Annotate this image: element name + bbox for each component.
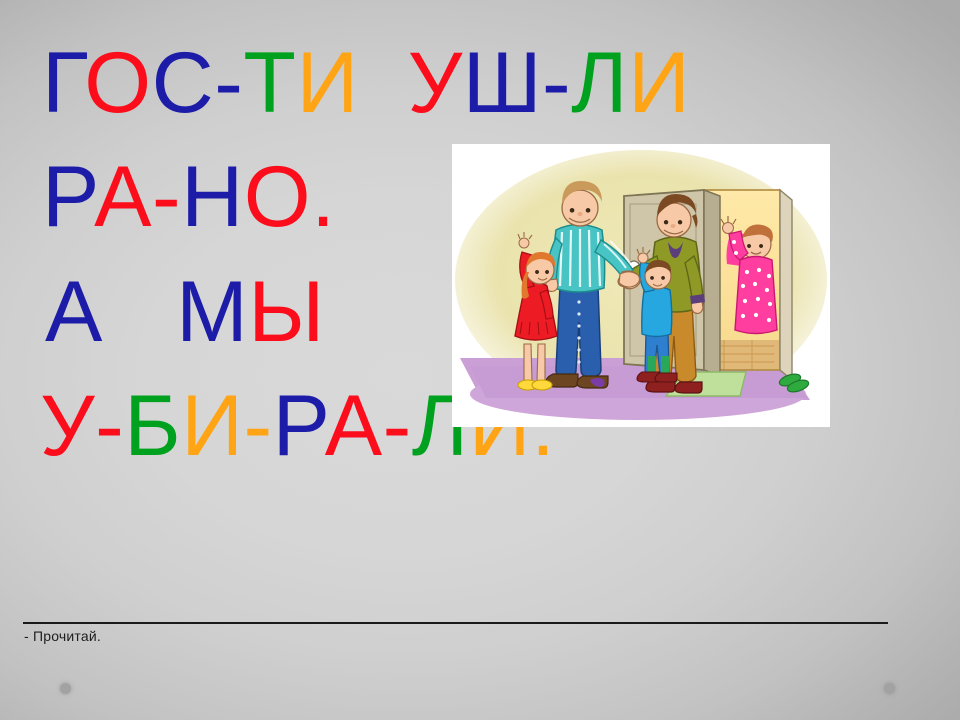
text-segment: М [176, 264, 248, 360]
footer-divider [23, 622, 888, 624]
text-segment: И [296, 35, 358, 131]
text-segment: Р [42, 149, 94, 245]
decorative-dot-right [884, 683, 895, 694]
text-segment: У- [40, 378, 124, 474]
decorative-dot-left [60, 683, 71, 694]
text-segment: Ы [248, 264, 325, 360]
illustration-frame [452, 144, 830, 427]
text-segment: А [45, 264, 103, 360]
text-segment: Б [124, 378, 181, 474]
footer-caption: - Прочитай. [24, 628, 101, 644]
handshake [619, 272, 640, 287]
text-segment: О [84, 35, 151, 131]
text-segment: Ш- [463, 35, 571, 131]
text-segment: Т [243, 35, 296, 131]
text-segment [103, 264, 176, 360]
text-segment: И- [181, 378, 272, 474]
text-segment [359, 35, 408, 131]
text-segment: Г [42, 35, 84, 131]
text-segment: Р [273, 378, 325, 474]
text-segment: С- [152, 35, 244, 131]
guests-leaving-illustration [452, 144, 830, 427]
text-segment: Н [181, 149, 244, 245]
text-segment: У [408, 35, 463, 131]
slide-canvas: ГОС-ТИ УШ-ЛИ РА-НО. А МЫ У-БИ-РА-ЛИ. [0, 0, 960, 720]
text-segment: Л [571, 35, 628, 131]
text-segment: А- [325, 378, 412, 474]
text-segment: И [628, 35, 690, 131]
text-line-1: ГОС-ТИ УШ-ЛИ [0, 26, 960, 140]
text-segment: А- [94, 149, 181, 245]
text-segment: О. [244, 149, 336, 245]
